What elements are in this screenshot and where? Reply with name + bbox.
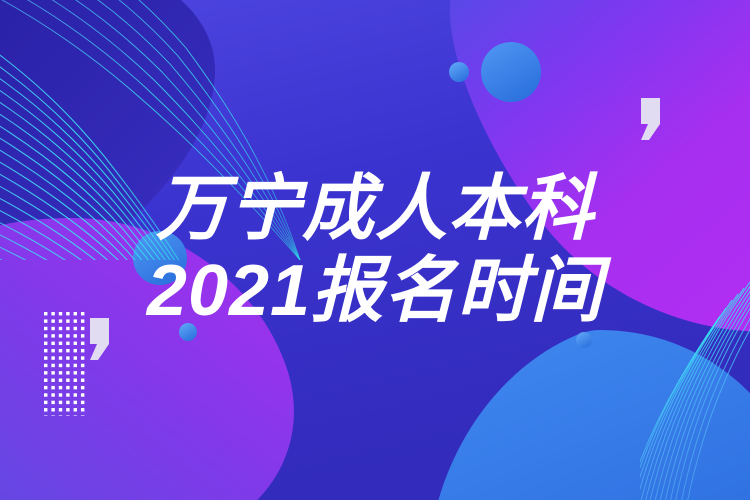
quote-marks-layer <box>0 0 750 500</box>
open-quote-icon <box>90 318 109 360</box>
promo-banner: 万宁成人本科 2021报名时间 <box>0 0 750 500</box>
close-quote-icon <box>641 98 660 140</box>
